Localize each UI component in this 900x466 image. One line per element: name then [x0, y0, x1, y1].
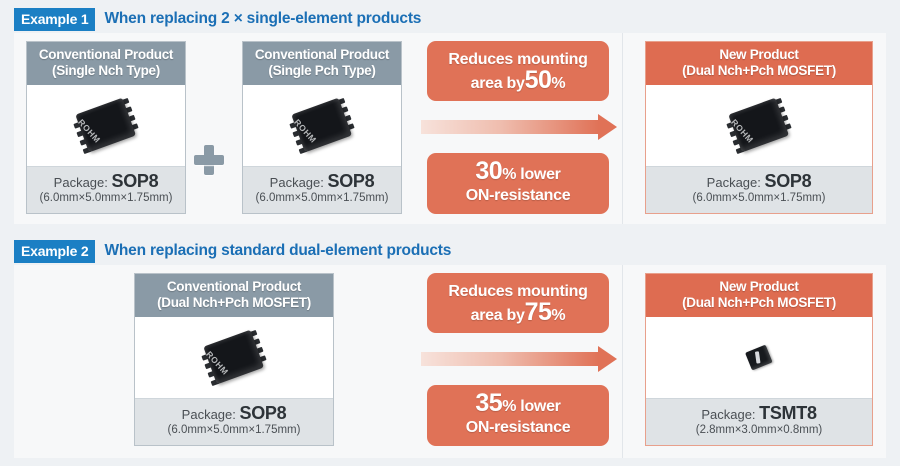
- example-1-heading: Example 1 When replacing 2 × single-elem…: [14, 8, 421, 30]
- benefit-value: 75: [525, 298, 552, 326]
- card-chip-image: [646, 317, 872, 398]
- card-header: Conventional Product (Single Nch Type): [27, 42, 185, 85]
- card-header: New Product (Dual Nch+Pch MOSFET): [646, 42, 872, 85]
- card-header-line1: New Product: [648, 47, 870, 63]
- package-label: Package:: [701, 407, 755, 422]
- arrow-head: [598, 114, 617, 140]
- plus-icon: [194, 145, 224, 175]
- example-2-title: When replacing standard dual-element pro…: [104, 242, 451, 260]
- package-dimensions: (6.0mm×5.0mm×1.75mm): [245, 191, 399, 206]
- package-value: SOP8: [765, 171, 812, 191]
- benefit-line-1: Reduces mounting: [448, 281, 587, 302]
- package-dimensions: (2.8mm×3.0mm×0.8mm): [648, 423, 870, 438]
- card-chip-image: ROHM: [243, 85, 401, 166]
- example-2-benefit-resistance-badge: 35% lower ON-resistance: [427, 385, 609, 446]
- benefit-prefix: area by: [471, 75, 525, 92]
- card-header-line1: Conventional Product: [245, 47, 399, 63]
- example-2-section: Example 2 When replacing standard dual-e…: [0, 232, 900, 466]
- package-label: Package:: [54, 175, 108, 190]
- benefit-line-2: area by50%: [448, 70, 587, 94]
- card-chip-image: ROHM: [135, 317, 333, 398]
- benefit-unit: %: [502, 398, 516, 415]
- package-value: SOP8: [328, 171, 375, 191]
- example-1-conventional-card-1: Conventional Product (Single Nch Type): [26, 41, 186, 214]
- example-2-new-product-card: New Product (Dual Nch+Pch MOSFET) Packag…: [645, 273, 873, 446]
- package-line: Package: SOP8: [29, 173, 183, 191]
- benefit-line-1: Reduces mounting: [448, 49, 587, 70]
- card-footer: Package: SOP8 (6.0mm×5.0mm×1.75mm): [27, 166, 185, 213]
- card-header-line2: (Single Nch Type): [29, 63, 183, 79]
- example-1-title: When replacing 2 × single-element produc…: [104, 10, 421, 28]
- example-1-benefit-resistance-badge: 30% lower ON-resistance: [427, 153, 609, 214]
- example-1-panel-divider: [622, 33, 623, 224]
- example-2-benefit-area-badge: Reduces mounting area by75%: [427, 273, 609, 333]
- benefit-prefix: area by: [471, 307, 525, 324]
- example-1-panel: Conventional Product (Single Nch Type): [14, 33, 886, 224]
- example-2-badge: Example 2: [14, 240, 95, 263]
- card-footer: Package: SOP8 (6.0mm×5.0mm×1.75mm): [135, 398, 333, 445]
- package-dimensions: (6.0mm×5.0mm×1.75mm): [137, 423, 331, 438]
- package-value: SOP8: [240, 403, 287, 423]
- benefit-line-2: ON-resistance: [466, 417, 571, 438]
- card-chip-image: ROHM: [646, 85, 872, 166]
- card-header: Conventional Product (Single Pch Type): [243, 42, 401, 85]
- package-line: Package: SOP8: [137, 405, 331, 423]
- comparison-infographic: Example 1 When replacing 2 × single-elem…: [0, 0, 900, 466]
- card-header-line1: New Product: [648, 279, 870, 295]
- card-header-line2: (Dual Nch+Pch MOSFET): [648, 63, 870, 79]
- arrow-head: [598, 346, 617, 372]
- card-header: New Product (Dual Nch+Pch MOSFET): [646, 274, 872, 317]
- example-2-conventional-card: Conventional Product (Dual Nch+Pch MOSFE…: [134, 273, 334, 446]
- arrow-shaft: [421, 352, 599, 366]
- benefit-value: 50: [525, 66, 552, 94]
- example-1-badge: Example 1: [14, 8, 95, 31]
- package-line: Package: SOP8: [648, 173, 870, 191]
- benefit-unit: %: [551, 307, 565, 324]
- card-footer: Package: TSMT8 (2.8mm×3.0mm×0.8mm): [646, 398, 872, 445]
- example-2-panel: Conventional Product (Dual Nch+Pch MOSFE…: [14, 265, 886, 458]
- sop8-chip-icon: ROHM: [135, 317, 333, 398]
- card-header-line2: (Single Pch Type): [245, 63, 399, 79]
- example-2-panel-divider: [622, 265, 623, 458]
- example-1-transition-arrow-icon: [421, 114, 617, 140]
- package-line: Package: SOP8: [245, 173, 399, 191]
- package-value: TSMT8: [759, 403, 817, 423]
- card-header-line2: (Dual Nch+Pch MOSFET): [137, 295, 331, 311]
- sop8-chip-icon: ROHM: [646, 85, 872, 166]
- example-2-transition-arrow-icon: [421, 346, 617, 372]
- arrow-shaft: [421, 120, 599, 134]
- card-footer: Package: SOP8 (6.0mm×5.0mm×1.75mm): [243, 166, 401, 213]
- example-1-section: Example 1 When replacing 2 × single-elem…: [0, 0, 900, 232]
- benefit-line-1: 30% lower: [466, 161, 571, 185]
- card-footer: Package: SOP8 (6.0mm×5.0mm×1.75mm): [646, 166, 872, 213]
- package-value: SOP8: [112, 171, 159, 191]
- card-header: Conventional Product (Dual Nch+Pch MOSFE…: [135, 274, 333, 317]
- package-line: Package: TSMT8: [648, 405, 870, 423]
- benefit-line-1: 35% lower: [466, 393, 571, 417]
- example-1-conventional-card-2: Conventional Product (Single Pch Type): [242, 41, 402, 214]
- benefit-suffix: lower: [516, 398, 560, 415]
- benefit-unit: %: [551, 75, 565, 92]
- benefit-value: 35: [475, 389, 502, 417]
- benefit-value: 30: [475, 157, 502, 185]
- card-header-line2: (Dual Nch+Pch MOSFET): [648, 295, 870, 311]
- tsmt8-chip-icon: [646, 317, 872, 398]
- benefit-suffix: lower: [516, 166, 560, 183]
- benefit-line-2: ON-resistance: [466, 185, 571, 206]
- benefit-line-2: area by75%: [448, 302, 587, 326]
- package-label: Package:: [270, 175, 324, 190]
- package-label: Package:: [182, 407, 236, 422]
- package-dimensions: (6.0mm×5.0mm×1.75mm): [29, 191, 183, 206]
- package-dimensions: (6.0mm×5.0mm×1.75mm): [648, 191, 870, 206]
- sop8-chip-icon: ROHM: [243, 85, 401, 166]
- example-2-heading: Example 2 When replacing standard dual-e…: [14, 240, 451, 262]
- example-1-new-product-card: New Product (Dual Nch+Pch MOSFET): [645, 41, 873, 214]
- card-header-line1: Conventional Product: [137, 279, 331, 295]
- card-chip-image: ROHM: [27, 85, 185, 166]
- example-1-benefit-area-badge: Reduces mounting area by50%: [427, 41, 609, 101]
- benefit-unit: %: [502, 166, 516, 183]
- sop8-chip-icon: ROHM: [27, 85, 185, 166]
- package-label: Package:: [707, 175, 761, 190]
- card-header-line1: Conventional Product: [29, 47, 183, 63]
